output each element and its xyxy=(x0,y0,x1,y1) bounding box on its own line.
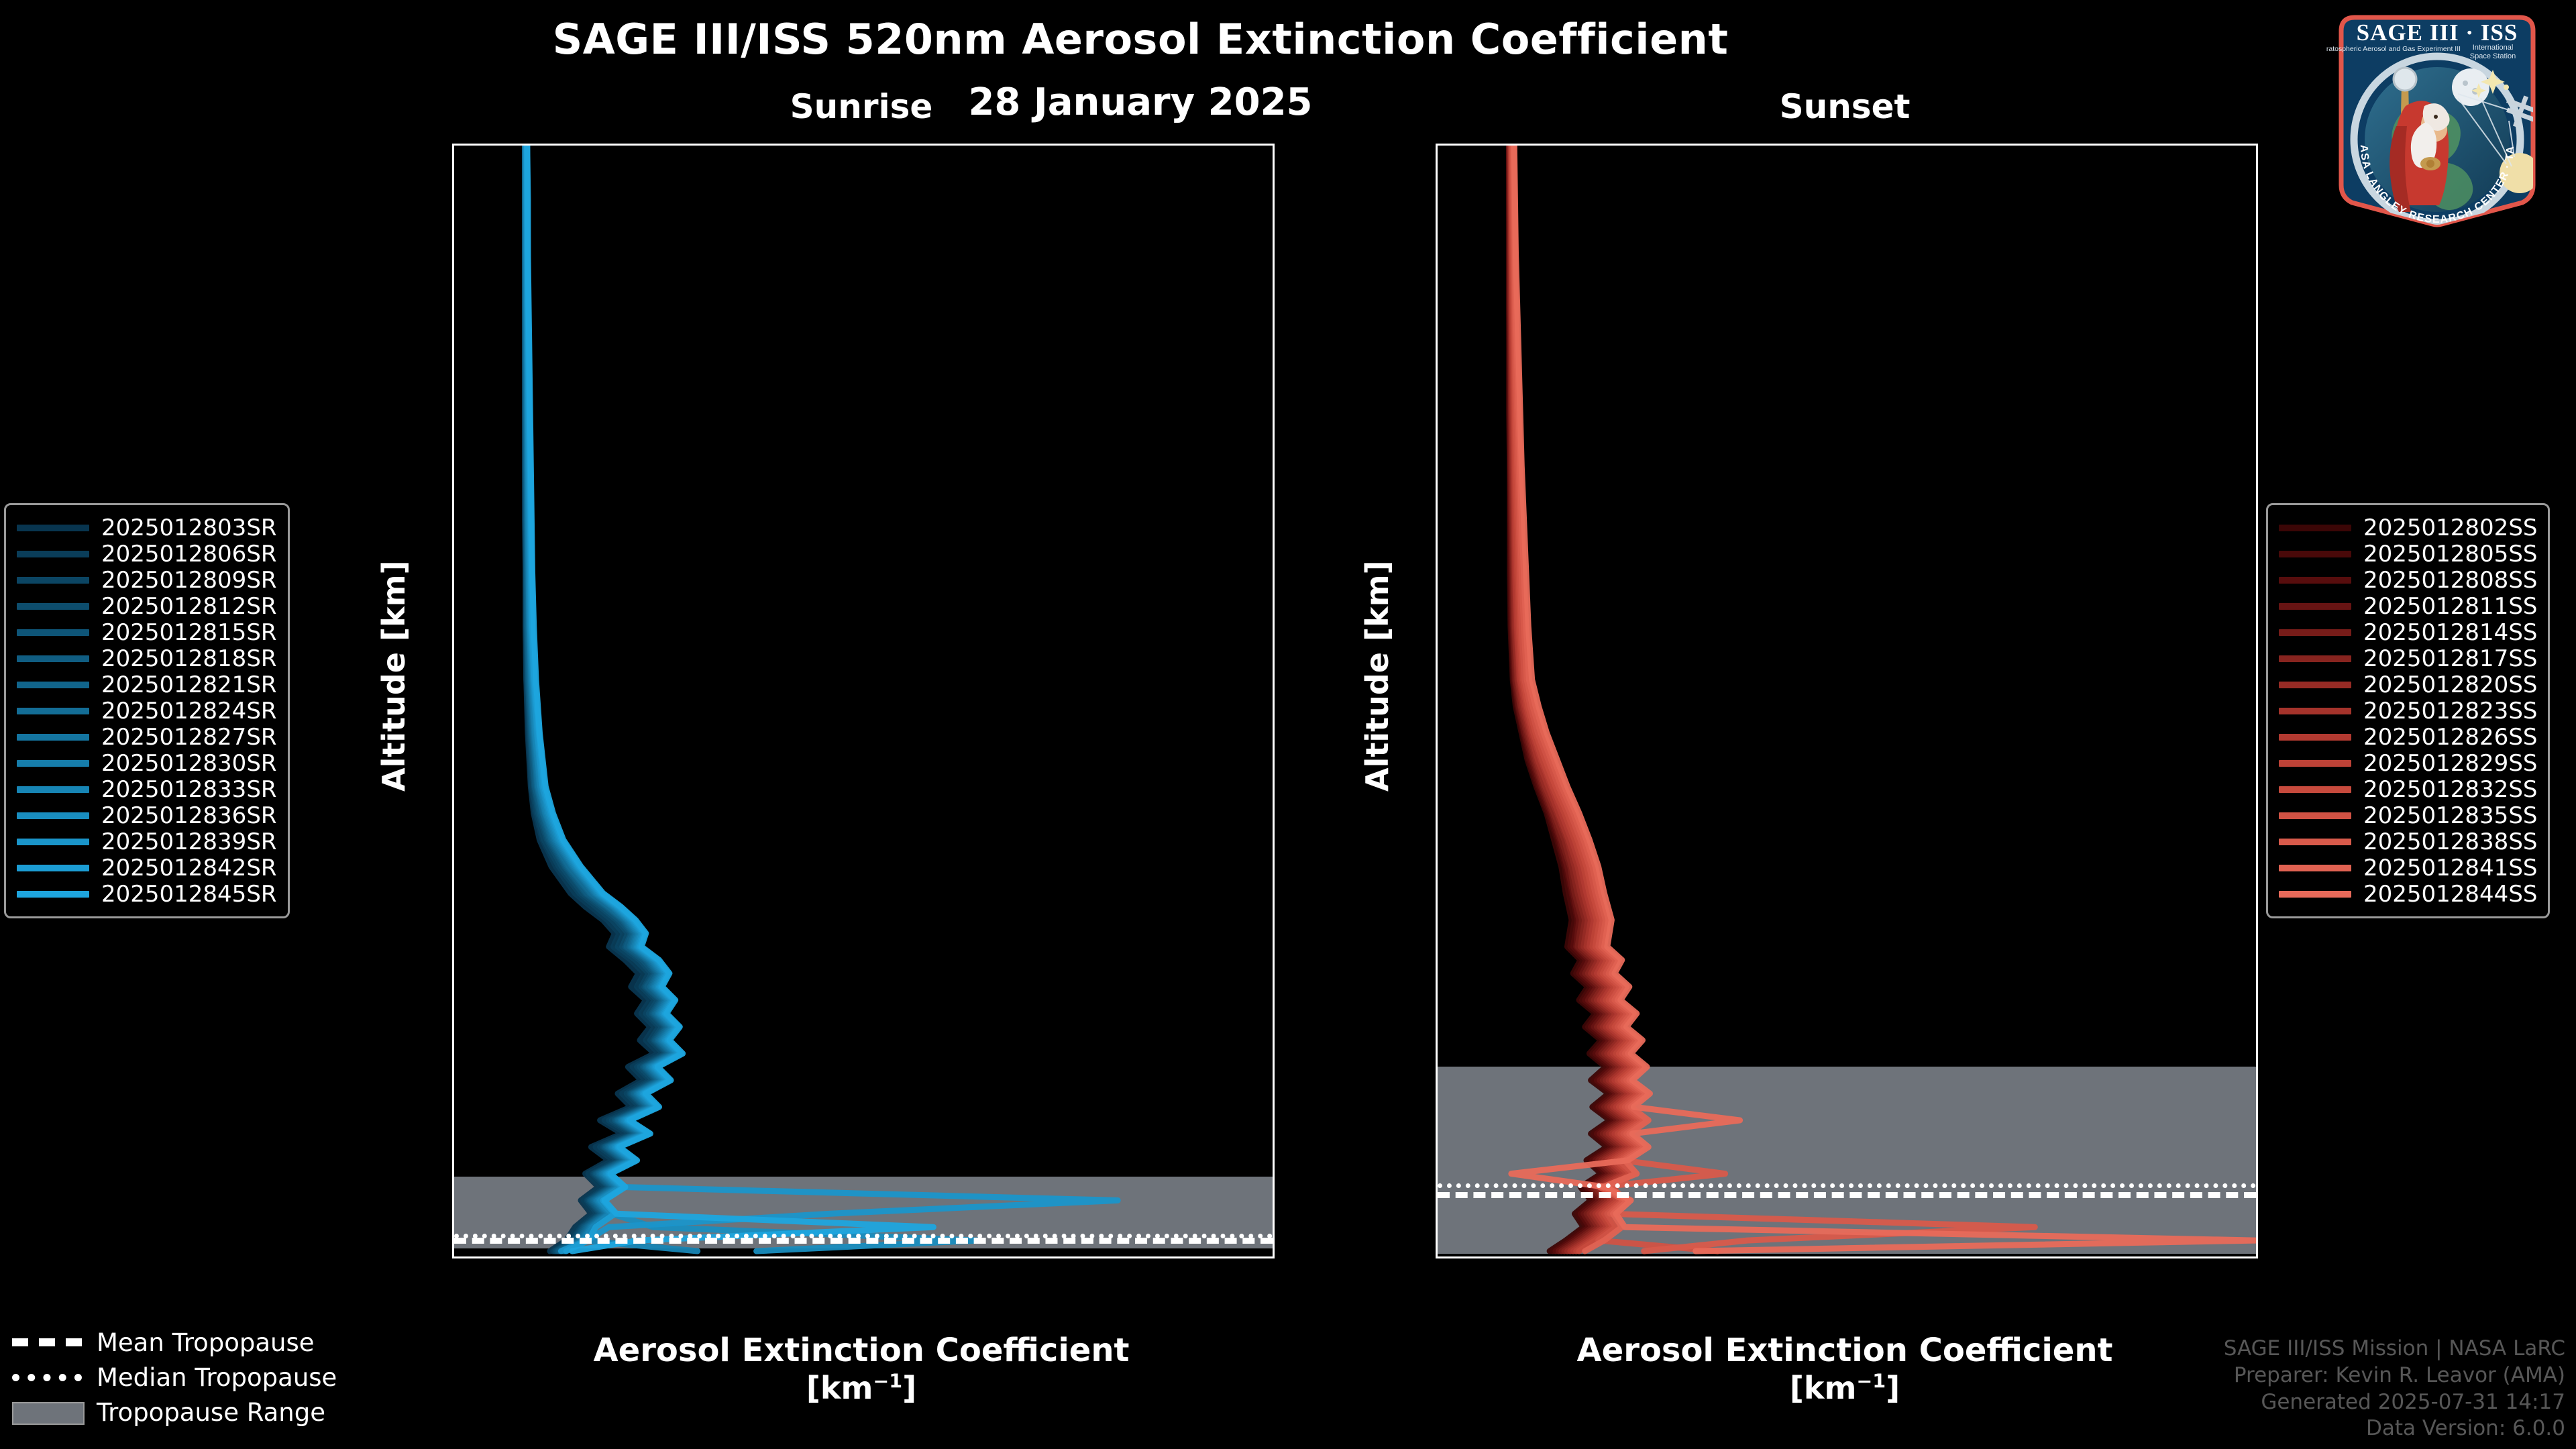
attribution-line-version: Data Version: 6.0.0 xyxy=(2224,1415,2565,1442)
attribution-block: SAGE III/ISS Mission | NASA LaRC Prepare… xyxy=(2224,1336,2565,1442)
profile-line-2025012833sr xyxy=(526,146,698,1251)
attribution-line-mission: SAGE III/ISS Mission | NASA LaRC xyxy=(2224,1336,2565,1362)
legend-item-2025012805ss[interactable]: 2025012805SS xyxy=(2279,541,2537,567)
legend-label: 2025012833SR xyxy=(101,776,277,803)
legend-item-2025012832ss[interactable]: 2025012832SS xyxy=(2279,776,2537,802)
legend-label: 2025012824SR xyxy=(101,698,277,724)
y-tick xyxy=(452,813,454,815)
sunrise-x-axis-label-text: Aerosol Extinction Coefficient xyxy=(594,1332,1130,1369)
legend-item-2025012839sr[interactable]: 2025012839SR xyxy=(17,828,277,855)
legend-label: 2025012809SR xyxy=(101,567,277,594)
sunset-plot-area: 1015202530354045500.0000.0020.0040.0060.… xyxy=(1436,144,2258,1258)
legend-item-2025012830sr[interactable]: 2025012830SR xyxy=(17,750,277,776)
legend-label: 2025012806SR xyxy=(101,541,277,568)
sunset-x-axis-label-text: Aerosol Extinction Coefficient xyxy=(1577,1332,2113,1369)
legend-label: 2025012844SS xyxy=(2363,881,2537,908)
svg-text:SAGE III · ISS: SAGE III · ISS xyxy=(2357,19,2518,46)
profile-series-group xyxy=(1438,146,2256,1256)
legend-item-2025012827sr[interactable]: 2025012827SR xyxy=(17,724,277,750)
legend-color-swatch xyxy=(17,786,89,793)
legend-color-swatch xyxy=(17,603,89,610)
legend-item-tropopause-range[interactable]: Tropopause Range xyxy=(12,1395,337,1430)
legend-item-2025012815sr[interactable]: 2025012815SR xyxy=(17,619,277,645)
x-tick xyxy=(521,1256,523,1258)
y-tick xyxy=(1436,813,1438,815)
tropopause-legend[interactable]: Mean Tropopause Median Tropopause Tropop… xyxy=(12,1325,337,1430)
legend-label: 2025012823SS xyxy=(2363,698,2537,724)
x-tick xyxy=(2241,1256,2243,1258)
sage-iii-iss-mission-patch-logo: SAGE III · ISS Stratospheric Aerosol and… xyxy=(2326,8,2548,229)
legend-label: 2025012836SR xyxy=(101,802,277,829)
dashed-line-icon xyxy=(12,1335,82,1350)
filled-band-icon xyxy=(12,1405,82,1419)
sunset-panel-title: Sunset xyxy=(1436,87,2254,126)
y-tick xyxy=(1436,947,1438,949)
x-tick xyxy=(1504,1256,1506,1258)
x-tick xyxy=(816,1256,818,1258)
page-title: SAGE III/ISS 520nm Aerosol Extinction Co… xyxy=(0,15,2281,64)
y-tick xyxy=(452,1214,454,1216)
legend-color-swatch xyxy=(17,891,89,898)
legend-label: 2025012812SR xyxy=(101,593,277,620)
attribution-line-generated: Generated 2025-07-31 14:17 xyxy=(2224,1389,2565,1416)
legend-color-swatch xyxy=(2279,525,2351,531)
sunset-x-axis-label: Aerosol Extinction Coefficient [km−1] xyxy=(1436,1332,2254,1406)
legend-color-swatch xyxy=(2279,655,2351,662)
legend-item-2025012824sr[interactable]: 2025012824SR xyxy=(17,698,277,724)
legend-label: 2025012830SR xyxy=(101,750,277,777)
legend-color-swatch xyxy=(2279,891,2351,898)
legend-color-swatch xyxy=(17,629,89,636)
legend-color-swatch xyxy=(17,734,89,741)
legend-label: 2025012845SR xyxy=(101,881,277,908)
x-tick xyxy=(1799,1256,1801,1258)
legend-color-swatch xyxy=(2279,577,2351,584)
legend-label: 2025012808SS xyxy=(2363,567,2537,594)
legend-item-mean-tropopause[interactable]: Mean Tropopause xyxy=(12,1325,337,1360)
x-tick xyxy=(668,1256,670,1258)
legend-color-swatch xyxy=(17,525,89,531)
legend-label: 2025012803SR xyxy=(101,515,277,541)
legend-label: 2025012829SS xyxy=(2363,750,2537,777)
svg-text:Space Station: Space Station xyxy=(2470,52,2516,60)
legend-item-median-tropopause[interactable]: Median Tropopause xyxy=(12,1360,337,1395)
legend-item-2025012814ss[interactable]: 2025012814SS xyxy=(2279,619,2537,645)
y-tick xyxy=(452,680,454,682)
legend-label: 2025012832SS xyxy=(2363,776,2537,803)
legend-label: 2025012838SS xyxy=(2363,828,2537,855)
legend-item-2025012802ss[interactable]: 2025012802SS xyxy=(2279,515,2537,541)
profile-line-2025012839sr xyxy=(527,146,1118,1251)
legend-item-2025012835ss[interactable]: 2025012835SS xyxy=(2279,802,2537,828)
legend-color-swatch xyxy=(2279,682,2351,688)
legend-color-swatch xyxy=(2279,629,2351,636)
legend-label: 2025012835SS xyxy=(2363,802,2537,829)
legend-item-2025012829ss[interactable]: 2025012829SS xyxy=(2279,750,2537,776)
legend-color-swatch xyxy=(17,655,89,662)
sunrise-x-axis-label: Aerosol Extinction Coefficient [km−1] xyxy=(452,1332,1271,1406)
mean-tropopause-line xyxy=(1438,1192,2256,1198)
sunrise-plot-area: 1015202530354045500.0000.0020.0040.0060.… xyxy=(452,144,1275,1258)
y-tick xyxy=(1436,1080,1438,1082)
legend-label: 2025012820SS xyxy=(2363,672,2537,698)
legend-color-swatch xyxy=(2279,760,2351,767)
legend-label: 2025012805SS xyxy=(2363,541,2537,568)
legend-label: 2025012826SS xyxy=(2363,724,2537,751)
profile-line-2025012845sr xyxy=(527,146,934,1251)
legend-item-2025012806sr[interactable]: 2025012806SR xyxy=(17,541,277,567)
x-tick xyxy=(1652,1256,1654,1258)
sunrise-x-axis-unit: [km−1] xyxy=(452,1370,1271,1406)
legend-item-2025012817ss[interactable]: 2025012817SS xyxy=(2279,645,2537,672)
profile-line-2025012836sr xyxy=(527,146,978,1251)
legend-color-swatch xyxy=(2279,734,2351,741)
y-tick xyxy=(452,279,454,281)
y-tick xyxy=(452,1080,454,1082)
legend-label: 2025012839SR xyxy=(101,828,277,855)
y-tick xyxy=(1436,1214,1438,1216)
legend-label: 2025012814SS xyxy=(2363,619,2537,646)
legend-color-swatch xyxy=(17,865,89,871)
legend-label: 2025012802SS xyxy=(2363,515,2537,541)
legend-item-2025012818sr[interactable]: 2025012818SR xyxy=(17,645,277,672)
y-tick xyxy=(452,947,454,949)
y-tick xyxy=(452,546,454,548)
x-tick xyxy=(1258,1256,1260,1258)
legend-item-2025012803sr[interactable]: 2025012803SR xyxy=(17,515,277,541)
y-tick xyxy=(1436,279,1438,281)
legend-item-2025012823ss[interactable]: 2025012823SS xyxy=(2279,698,2537,724)
legend-color-swatch xyxy=(2279,786,2351,793)
median-tropopause-line xyxy=(1438,1183,2256,1188)
legend-color-swatch xyxy=(17,812,89,819)
legend-label: 2025012842SR xyxy=(101,855,277,881)
y-tick xyxy=(1436,680,1438,682)
legend-label-median-tropopause: Median Tropopause xyxy=(97,1363,337,1392)
y-tick xyxy=(1436,546,1438,548)
legend-label-mean-tropopause: Mean Tropopause xyxy=(97,1328,315,1357)
legend-item-2025012844ss[interactable]: 2025012844SS xyxy=(2279,881,2537,907)
x-tick xyxy=(2094,1256,2096,1258)
sunrise-panel-title: Sunrise xyxy=(452,87,1271,126)
legend-color-swatch xyxy=(17,551,89,557)
legend-label: 2025012811SS xyxy=(2363,593,2537,620)
legend-item-2025012811ss[interactable]: 2025012811SS xyxy=(2279,593,2537,619)
mean-tropopause-line xyxy=(454,1238,1273,1244)
sunrise-y-axis-label: Altitude [km] xyxy=(376,560,412,792)
legend-item-2025012820ss[interactable]: 2025012820SS xyxy=(2279,672,2537,698)
legend-item-2025012808ss[interactable]: 2025012808SS xyxy=(2279,567,2537,593)
legend-color-swatch xyxy=(2279,603,2351,610)
y-tick xyxy=(1436,146,1438,148)
legend-color-swatch xyxy=(2279,812,2351,819)
x-tick xyxy=(1110,1256,1112,1258)
svg-text:Stratospheric Aerosol and Gas: Stratospheric Aerosol and Gas Experiment… xyxy=(2326,45,2461,53)
legend-color-swatch xyxy=(17,682,89,688)
legend-color-swatch xyxy=(2279,839,2351,845)
legend-color-swatch xyxy=(2279,708,2351,714)
legend-color-swatch xyxy=(2279,551,2351,557)
profile-line-2025012838ss xyxy=(1513,146,2035,1251)
sunset-x-axis-unit: [km−1] xyxy=(1436,1370,2254,1406)
legend-color-swatch xyxy=(17,760,89,767)
legend-label: 2025012821SR xyxy=(101,672,277,698)
sunrise-event-legend[interactable]: 2025012803SR2025012806SR2025012809SR2025… xyxy=(4,503,290,918)
x-tick xyxy=(1946,1256,1948,1258)
legend-color-swatch xyxy=(17,839,89,845)
dotted-line-icon xyxy=(12,1370,82,1385)
legend-item-2025012809sr[interactable]: 2025012809SR xyxy=(17,567,277,593)
x-tick xyxy=(963,1256,965,1258)
sunset-event-legend[interactable]: 2025012802SS2025012805SS2025012808SS2025… xyxy=(2266,503,2550,918)
legend-item-2025012842sr[interactable]: 2025012842SR xyxy=(17,855,277,881)
legend-item-2025012838ss[interactable]: 2025012838SS xyxy=(2279,828,2537,855)
legend-item-2025012841ss[interactable]: 2025012841SS xyxy=(2279,855,2537,881)
legend-item-2025012826ss[interactable]: 2025012826SS xyxy=(2279,724,2537,750)
legend-item-2025012812sr[interactable]: 2025012812SR xyxy=(17,593,277,619)
legend-label: 2025012815SR xyxy=(101,619,277,646)
legend-label: 2025012841SS xyxy=(2363,855,2537,881)
y-tick xyxy=(1436,413,1438,415)
legend-item-2025012845sr[interactable]: 2025012845SR xyxy=(17,881,277,907)
legend-color-swatch xyxy=(17,577,89,584)
legend-item-2025012833sr[interactable]: 2025012833SR xyxy=(17,776,277,802)
legend-label: 2025012818SR xyxy=(101,645,277,672)
y-tick xyxy=(452,413,454,415)
y-tick xyxy=(452,146,454,148)
profile-series-group xyxy=(454,146,1273,1256)
legend-item-2025012821sr[interactable]: 2025012821SR xyxy=(17,672,277,698)
svg-text:International: International xyxy=(2473,44,2514,52)
legend-color-swatch xyxy=(2279,865,2351,871)
sunset-y-axis-label: Altitude [km] xyxy=(1359,560,1395,792)
legend-label-tropopause-range: Tropopause Range xyxy=(97,1398,325,1427)
legend-label: 2025012817SS xyxy=(2363,645,2537,672)
legend-label: 2025012827SR xyxy=(101,724,277,751)
attribution-line-preparer: Preparer: Kevin R. Leavor (AMA) xyxy=(2224,1362,2565,1389)
legend-color-swatch xyxy=(17,708,89,714)
legend-item-2025012836sr[interactable]: 2025012836SR xyxy=(17,802,277,828)
